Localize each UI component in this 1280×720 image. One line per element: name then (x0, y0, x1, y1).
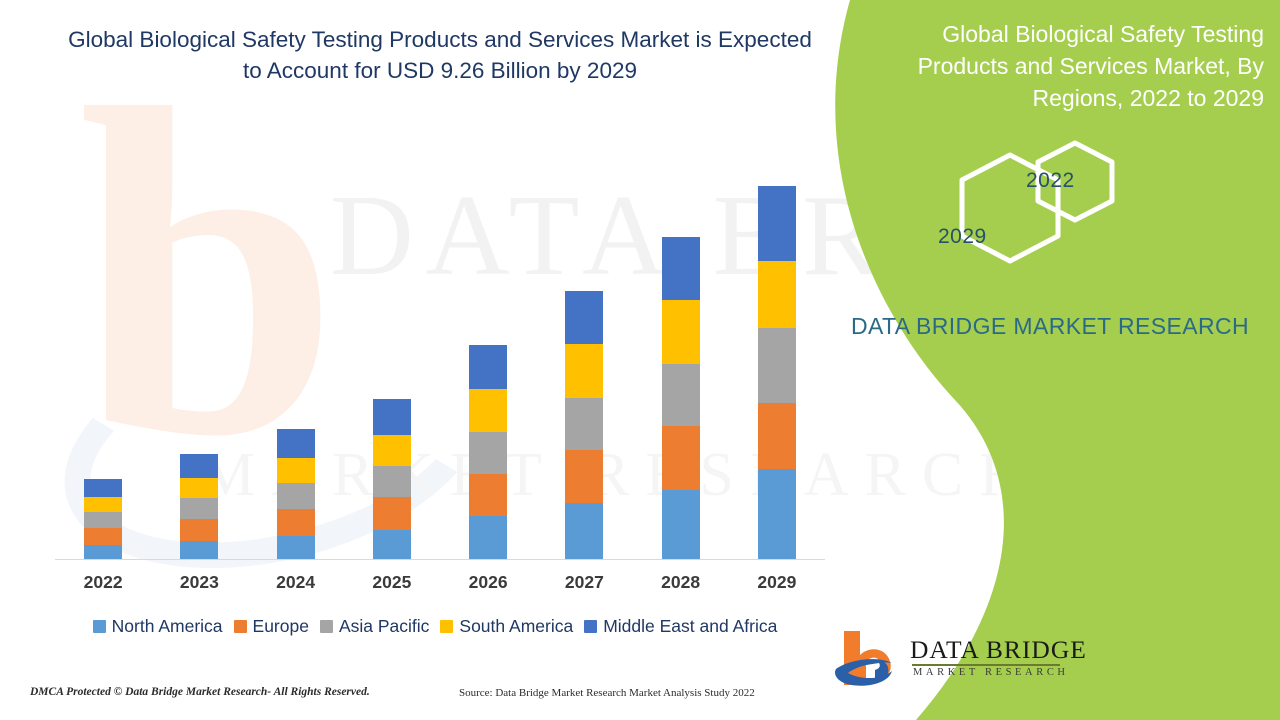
green-side-panel: Global Biological Safety Testing Product… (820, 0, 1280, 720)
x-axis-label: 2026 (448, 572, 528, 593)
bar-segment[interactable] (373, 530, 411, 559)
stacked-bar-chart-plot (55, 150, 825, 560)
bar-segment[interactable] (84, 512, 122, 528)
legend-swatch-icon (234, 620, 247, 633)
brand-heading: DATA BRIDGE MARKET RESEARCH (850, 310, 1250, 342)
bar-segment[interactable] (662, 426, 700, 490)
legend-swatch-icon (584, 620, 597, 633)
dmca-footer-text: DMCA Protected © Data Bridge Market Rese… (30, 686, 370, 698)
bar-segment[interactable] (469, 516, 507, 559)
bar-group[interactable] (180, 454, 218, 559)
infographic-root: b DATA BRIDGE MARKET RESEARCH Global Bio… (0, 0, 1280, 720)
bar-segment[interactable] (277, 429, 315, 458)
x-axis-line (55, 559, 825, 560)
bar-segment[interactable] (84, 545, 122, 559)
bar-segment[interactable] (662, 364, 700, 426)
bar-segment[interactable] (565, 291, 603, 344)
bar-segment[interactable] (758, 328, 796, 403)
legend-label: Europe (253, 616, 309, 637)
hexagon-shapes-svg (920, 140, 1150, 290)
x-axis-label: 2023 (159, 572, 239, 593)
hexagon-group: 2029 2022 (920, 140, 1150, 290)
legend-swatch-icon (320, 620, 333, 633)
bar-group[interactable] (84, 479, 122, 559)
hexagon-2022-label: 2022 (1026, 169, 1075, 193)
logo-name-text: DATA BRIDGE (910, 635, 1087, 665)
hexagon-2029-label: 2029 (938, 225, 987, 249)
source-footer-text: Source: Data Bridge Market Research Mark… (459, 687, 755, 699)
green-panel-content: Global Biological Safety Testing Product… (820, 0, 1280, 720)
bar-segment[interactable] (180, 498, 218, 519)
bar-segment[interactable] (84, 479, 122, 497)
bar-segment[interactable] (373, 435, 411, 466)
bar-segment[interactable] (565, 503, 603, 559)
bar-segment[interactable] (277, 536, 315, 559)
bar-segment[interactable] (180, 541, 218, 559)
bar-group[interactable] (758, 186, 796, 559)
bar-segment[interactable] (565, 344, 603, 398)
bar-segment[interactable] (373, 497, 411, 530)
bar-segment[interactable] (662, 300, 700, 364)
bar-segment[interactable] (662, 237, 700, 300)
legend-swatch-icon (93, 620, 106, 633)
legend-label: Middle East and Africa (603, 616, 777, 637)
chart-title: Global Biological Safety Testing Product… (60, 24, 820, 86)
x-axis-label: 2029 (737, 572, 817, 593)
bar-segment[interactable] (277, 458, 315, 483)
x-axis-label: 2028 (641, 572, 721, 593)
legend-label: Asia Pacific (339, 616, 429, 637)
bar-segment[interactable] (180, 454, 218, 478)
x-axis-label: 2024 (256, 572, 336, 593)
bar-segment[interactable] (180, 478, 218, 498)
bar-group[interactable] (373, 399, 411, 559)
bar-segment[interactable] (469, 432, 507, 474)
x-axis-label: 2027 (544, 572, 624, 593)
x-axis-labels: 20222023202420252026202720282029 (55, 572, 825, 600)
logo-subtitle-text: MARKET RESEARCH (913, 667, 1069, 678)
bar-segment[interactable] (758, 403, 796, 469)
bar-segment[interactable] (373, 466, 411, 497)
legend-item[interactable]: Asia Pacific (320, 616, 429, 637)
bar-group[interactable] (277, 429, 315, 559)
bar-segment[interactable] (758, 186, 796, 261)
bar-group[interactable] (662, 237, 700, 559)
bar-segment[interactable] (662, 490, 700, 559)
chart-legend: North AmericaEuropeAsia PacificSouth Ame… (40, 616, 830, 637)
green-panel-title: Global Biological Safety Testing Product… (852, 18, 1264, 114)
bar-segment[interactable] (84, 528, 122, 545)
bar-segment[interactable] (180, 519, 218, 541)
bar-segment[interactable] (565, 450, 603, 503)
bar-segment[interactable] (84, 497, 122, 512)
chart-panel: Global Biological Safety Testing Product… (0, 0, 860, 720)
bar-segment[interactable] (758, 261, 796, 328)
legend-item[interactable]: Middle East and Africa (584, 616, 777, 637)
bar-segment[interactable] (469, 345, 507, 389)
bar-segment[interactable] (565, 398, 603, 450)
legend-label: South America (459, 616, 573, 637)
x-axis-label: 2022 (63, 572, 143, 593)
bar-segment[interactable] (469, 389, 507, 432)
legend-item[interactable]: Europe (234, 616, 309, 637)
legend-label: North America (112, 616, 223, 637)
bar-segment[interactable] (277, 483, 315, 509)
bar-group[interactable] (469, 345, 507, 559)
bar-segment[interactable] (758, 469, 796, 559)
legend-item[interactable]: North America (93, 616, 223, 637)
legend-swatch-icon (440, 620, 453, 633)
data-bridge-logo: DATA BRIDGE MARKET RESEARCH (830, 625, 1070, 697)
bar-segment[interactable] (469, 474, 507, 516)
bar-segment[interactable] (373, 399, 411, 435)
legend-item[interactable]: South America (440, 616, 573, 637)
bar-group[interactable] (565, 291, 603, 559)
bar-segment[interactable] (277, 509, 315, 536)
x-axis-label: 2025 (352, 572, 432, 593)
